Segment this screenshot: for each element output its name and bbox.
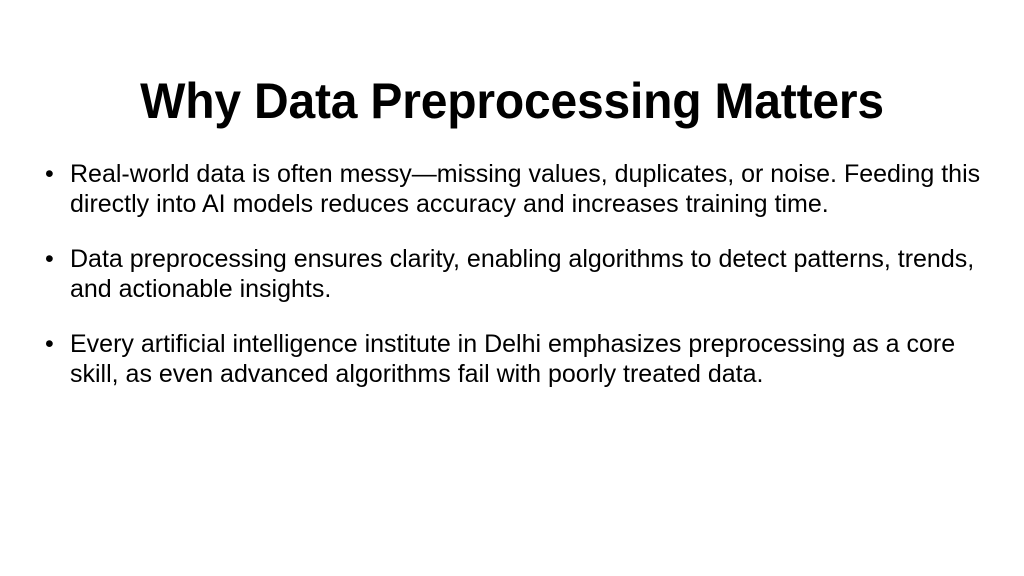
bullet-dot-icon: • [45,330,63,360]
bullet-list: • Real-world data is often messy—missing… [38,160,998,389]
list-item-text: Every artificial intelligence institute … [70,330,998,389]
presentation-slide: Why Data Preprocessing Matters • Real-wo… [0,0,1024,576]
list-item: • Every artificial intelligence institut… [38,330,998,389]
bullet-dot-icon: • [45,245,63,275]
list-item: • Data preprocessing ensures clarity, en… [38,245,998,304]
page-title: Why Data Preprocessing Matters [20,72,1003,130]
list-item-text: Real-world data is often messy—missing v… [70,160,998,219]
bullet-dot-icon: • [45,160,63,190]
list-item: • Real-world data is often messy—missing… [38,160,998,219]
list-item-text: Data preprocessing ensures clarity, enab… [70,245,998,304]
